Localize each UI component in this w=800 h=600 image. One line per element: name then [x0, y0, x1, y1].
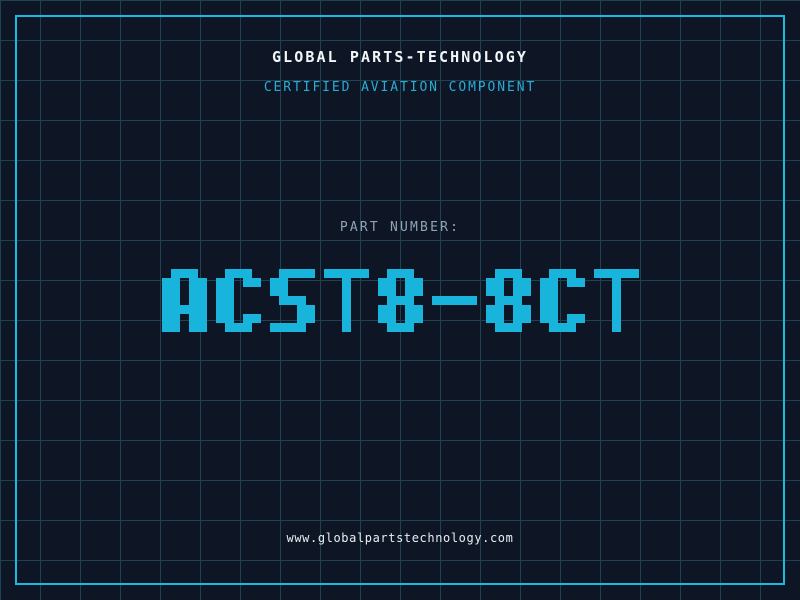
part-number-card: GLOBAL PARTS-TECHNOLOGY CERTIFIED AVIATI…	[0, 0, 800, 600]
part-number-value	[0, 258, 800, 342]
certification-subtitle: CERTIFIED AVIATION COMPONENT	[0, 80, 800, 95]
website-url: www.globalpartstechnology.com	[0, 531, 800, 545]
company-title: GLOBAL PARTS-TECHNOLOGY	[0, 48, 800, 66]
part-number-bitmap	[162, 269, 639, 332]
part-number-label: PART NUMBER:	[0, 220, 800, 235]
